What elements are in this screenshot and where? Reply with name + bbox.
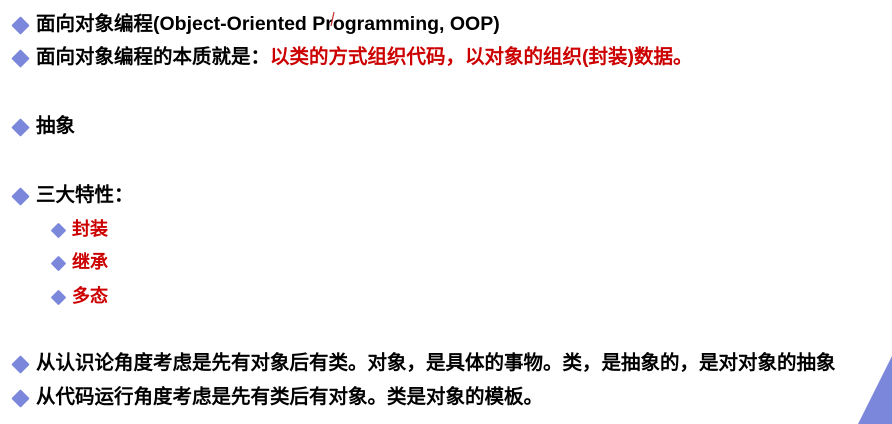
plain-text: 面向对象编程(Object-Oriented Programming, OOP) — [36, 13, 500, 35]
bullet-item: 面向对象编程的本质就是：以类的方式组织代码，以对象的组织(封装)数据。 — [14, 47, 693, 68]
diamond-bullet-icon — [11, 16, 29, 34]
emphasis-text: 多态 — [72, 286, 108, 306]
slide-bullet-list: 面向对象编程(Object-Oriented Programming, OOP)… — [0, 0, 892, 424]
diamond-bullet-icon — [51, 223, 67, 239]
emphasis-text: 以类的方式组织代码，以对象的组织(封装)数据。 — [270, 46, 693, 68]
bullet-text: 从认识论角度考虑是先有对象后有类。对象，是具体的事物。类，是抽象的，是对对象的抽… — [36, 353, 836, 374]
plain-text: 从认识论角度考虑是先有对象后有类。对象，是具体的事物。类，是抽象的，是对对象的抽… — [36, 352, 836, 374]
diamond-bullet-icon — [51, 256, 67, 272]
bullet-item: 从认识论角度考虑是先有对象后有类。对象，是具体的事物。类，是抽象的，是对对象的抽… — [14, 353, 836, 374]
plain-text: 抽象 — [36, 115, 75, 137]
bullet-text: 封装 — [72, 220, 108, 240]
plain-text: 面向对象编程的本质就是： — [36, 46, 270, 68]
bullet-text: 继承 — [72, 253, 108, 273]
plain-text: 三大特性： — [36, 184, 134, 206]
diamond-bullet-icon — [51, 290, 67, 306]
sub-bullet-item: 封装 — [53, 220, 108, 240]
diamond-bullet-icon — [11, 355, 29, 373]
sub-bullet-item: 继承 — [53, 253, 108, 273]
bullet-text: 抽象 — [36, 116, 75, 137]
diamond-bullet-icon — [11, 118, 29, 136]
bullet-text: 三大特性： — [36, 185, 134, 206]
diamond-bullet-icon — [11, 389, 29, 407]
slide-canvas: 面向对象编程(Object-Oriented Programming, OOP)… — [0, 0, 892, 424]
plain-text: 从代码运行角度考虑是先有类后有对象。类是对象的模板。 — [36, 386, 543, 408]
diamond-bullet-icon — [11, 49, 29, 67]
bullet-text: 多态 — [72, 287, 108, 307]
bullet-item: 三大特性： — [14, 185, 134, 206]
bullet-item: 抽象 — [14, 116, 75, 137]
emphasis-text: 继承 — [72, 252, 108, 272]
sub-bullet-item: 多态 — [53, 287, 108, 307]
bullet-item: 面向对象编程(Object-Oriented Programming, OOP) — [14, 14, 500, 35]
diamond-bullet-icon — [11, 187, 29, 205]
bullet-item: 从代码运行角度考虑是先有类后有对象。类是对象的模板。 — [14, 387, 543, 408]
bullet-text: 面向对象编程(Object-Oriented Programming, OOP) — [36, 14, 500, 35]
bullet-text: 面向对象编程的本质就是：以类的方式组织代码，以对象的组织(封装)数据。 — [36, 47, 693, 68]
emphasis-text: 封装 — [72, 219, 108, 239]
bullet-text: 从代码运行角度考虑是先有类后有对象。类是对象的模板。 — [36, 387, 543, 408]
